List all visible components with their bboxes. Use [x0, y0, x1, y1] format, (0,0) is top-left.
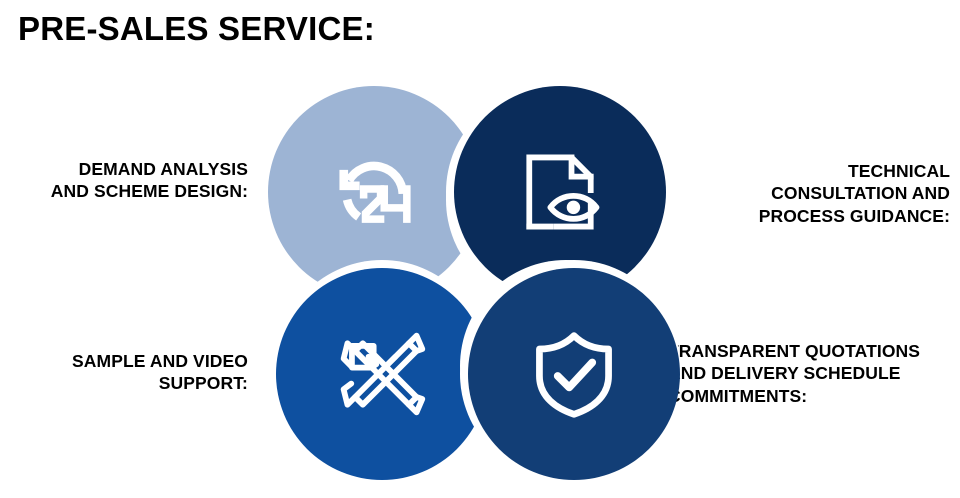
pre-sales-service-infographic: PRE-SALES SERVICE: DEMAND ANALYSIS AND S… — [0, 0, 960, 498]
label-line: COMMITMENTS: — [668, 385, 960, 407]
label-line: TECHNICAL — [724, 160, 950, 182]
label-line: SAMPLE AND VIDEO — [8, 350, 248, 372]
circle-sample-video-support — [276, 268, 488, 480]
label-line: PROCESS GUIDANCE: — [724, 205, 950, 227]
rotate-24-hours-icon — [326, 144, 422, 240]
label-sample-video-support: SAMPLE AND VIDEO SUPPORT: — [8, 350, 248, 395]
label-demand-analysis: DEMAND ANALYSIS AND SCHEME DESIGN: — [8, 158, 248, 203]
circle-cluster — [268, 86, 692, 480]
label-line: CONSULTATION AND — [724, 182, 950, 204]
label-line: AND SCHEME DESIGN: — [8, 180, 248, 202]
label-transparent-quotations: TRANSPARENT QUOTATIONS AND DELIVERY SCHE… — [668, 340, 960, 407]
label-technical-consultation: TECHNICAL CONSULTATION AND PROCESS GUIDA… — [724, 160, 950, 227]
page-title: PRE-SALES SERVICE: — [18, 10, 375, 48]
label-line: AND DELIVERY SCHEDULE — [668, 362, 960, 384]
shield-check-icon — [526, 326, 622, 422]
label-line: DEMAND ANALYSIS — [8, 158, 248, 180]
label-line: TRANSPARENT QUOTATIONS — [668, 340, 960, 362]
circle-transparent-quotations — [468, 268, 680, 480]
pen-pencil-cross-icon — [334, 326, 430, 422]
label-line: SUPPORT: — [8, 372, 248, 394]
circle-demand-analysis — [268, 86, 480, 298]
document-eye-icon — [512, 144, 608, 240]
circle-technical-consultation — [454, 86, 666, 298]
